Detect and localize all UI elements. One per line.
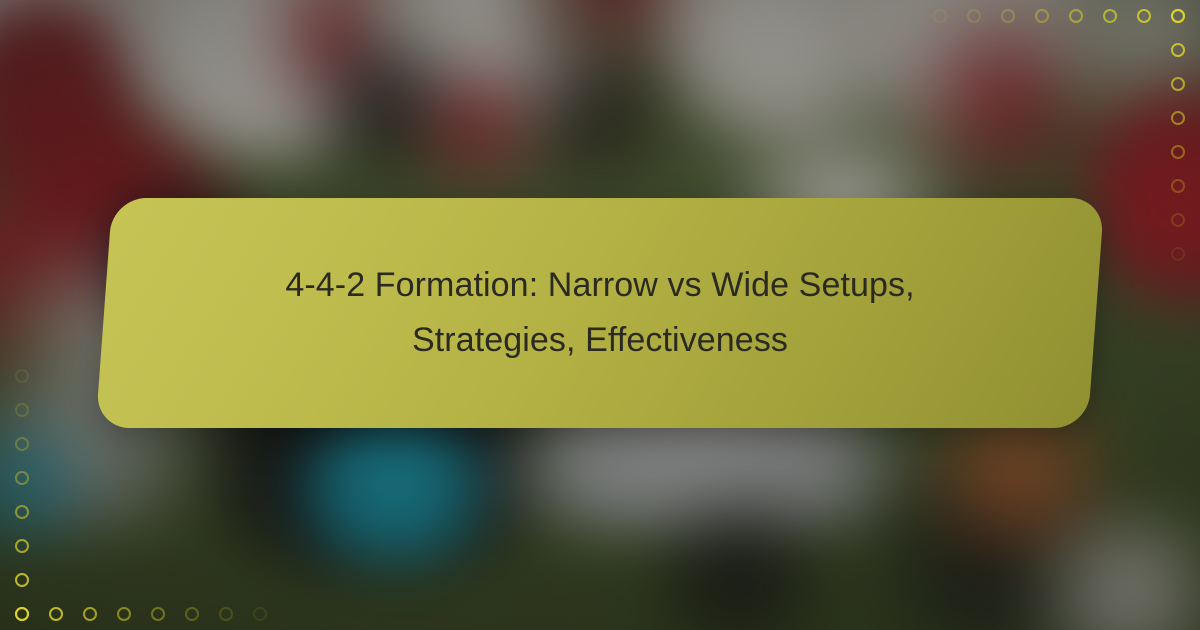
decorative-circle-icon [10,568,34,592]
decorative-circle-icon [1166,38,1190,62]
decorative-circle-icon [1166,242,1190,266]
decorative-circle-icon [1030,4,1054,28]
title-card-content: 4-4-2 Formation: Narrow vs Wide Setups, … [104,198,1096,428]
decorative-circle-icon [1166,140,1190,164]
decorative-circle-icon [996,4,1020,28]
decorative-circle-icon [10,398,34,422]
decorative-circle-icon [1166,72,1190,96]
decorative-circle-icon [10,500,34,524]
decorative-circle-icon [1166,4,1190,28]
decorative-circles-right-column [1166,4,1190,266]
decorative-circle-icon [1166,208,1190,232]
decorative-circle-icon [10,602,34,626]
decorative-circle-icon [112,602,136,626]
decorative-circle-icon [1166,106,1190,130]
page-title: 4-4-2 Formation: Narrow vs Wide Setups, … [285,258,914,368]
decorative-circle-icon [1098,4,1122,28]
page-title-line-1: 4-4-2 Formation: Narrow vs Wide Setups, [285,258,914,313]
decorative-circle-icon [1132,4,1156,28]
decorative-circle-icon [10,534,34,558]
decorative-circles-left-column [10,364,34,626]
decorative-circle-icon [78,602,102,626]
decorative-circle-icon [10,432,34,456]
decorative-circle-icon [214,602,238,626]
decorative-circle-icon [10,466,34,490]
og-card-canvas: 4-4-2 Formation: Narrow vs Wide Setups, … [0,0,1200,630]
page-title-line-2: Strategies, Effectiveness [285,313,914,368]
decorative-circles-top-right-row [928,4,1190,28]
decorative-circle-icon [962,4,986,28]
decorative-circle-icon [928,4,952,28]
decorative-circle-icon [1064,4,1088,28]
decorative-circle-icon [146,602,170,626]
decorative-circle-icon [44,602,68,626]
decorative-circle-icon [10,364,34,388]
decorative-circle-icon [248,602,272,626]
decorative-circle-icon [180,602,204,626]
title-card: 4-4-2 Formation: Narrow vs Wide Setups, … [96,198,1105,428]
decorative-circle-icon [1166,174,1190,198]
decorative-circles-bottom-left-row [10,602,272,626]
